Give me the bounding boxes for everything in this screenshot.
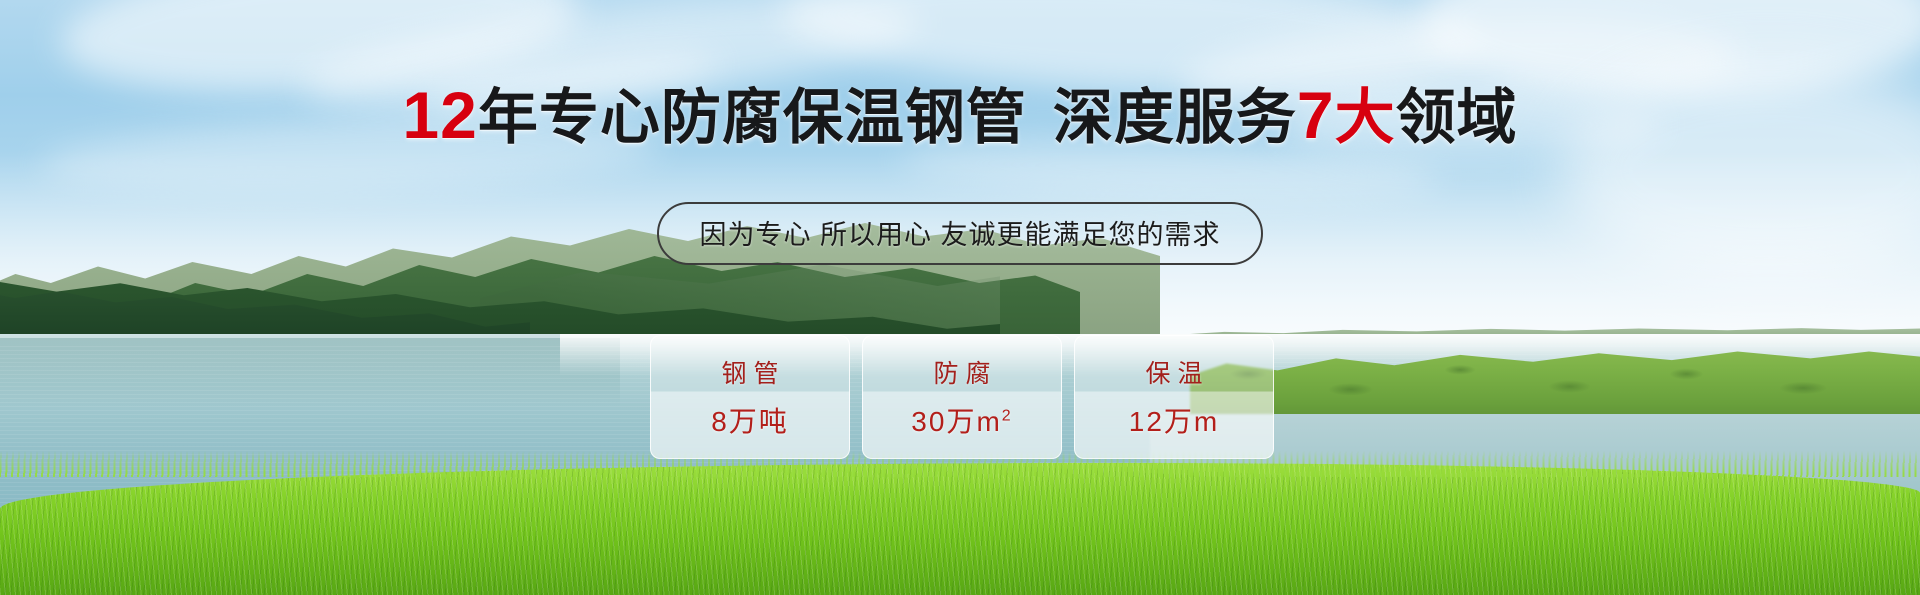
stat-card-value-text: 30万m: [911, 406, 1001, 437]
headline-years-text: 年专心防腐保温钢管: [478, 84, 1027, 151]
headline-fields-text: 领域: [1396, 84, 1518, 151]
stat-card-value-text: 8万吨: [711, 406, 789, 437]
stat-card-value-superscript: 2: [1002, 408, 1013, 425]
stat-card-anticorrosion[interactable]: 防腐 30万m2: [862, 335, 1062, 459]
banner-headline: 12年专心防腐保温钢管深度服务7大领域: [0, 82, 1920, 148]
stat-card-value: 12万m: [1129, 400, 1219, 440]
headline-years-number: 12: [402, 78, 477, 152]
headline-seven-number: 7: [1297, 78, 1335, 152]
headline-seven-unit: 大: [1335, 84, 1396, 151]
banner-subtitle-wrap: 因为专心 所以用心 友诚更能满足您的需求: [0, 202, 1920, 265]
stat-card-group: 钢管 8万吨 防腐 30万m2 保温 12万m: [650, 335, 1274, 459]
stat-card-value: 30万m2: [911, 400, 1012, 440]
stat-card-label: 防腐: [926, 354, 997, 390]
grass-blade-texture: [0, 463, 1920, 595]
stat-card-label: 钢管: [714, 354, 785, 390]
headline-service-text: 深度服务: [1053, 84, 1297, 151]
stat-card-steel-pipe[interactable]: 钢管 8万吨: [650, 335, 850, 459]
promo-banner: 12年专心防腐保温钢管深度服务7大领域 因为专心 所以用心 友诚更能满足您的需求…: [0, 0, 1920, 595]
stat-card-value-text: 12万m: [1129, 406, 1219, 437]
stat-card-label: 保温: [1138, 354, 1209, 390]
stat-card-value: 8万吨: [711, 400, 789, 440]
stat-card-insulation[interactable]: 保温 12万m: [1074, 335, 1274, 459]
marsh-texture: [1190, 346, 1920, 416]
banner-subtitle: 因为专心 所以用心 友诚更能满足您的需求: [657, 202, 1262, 265]
